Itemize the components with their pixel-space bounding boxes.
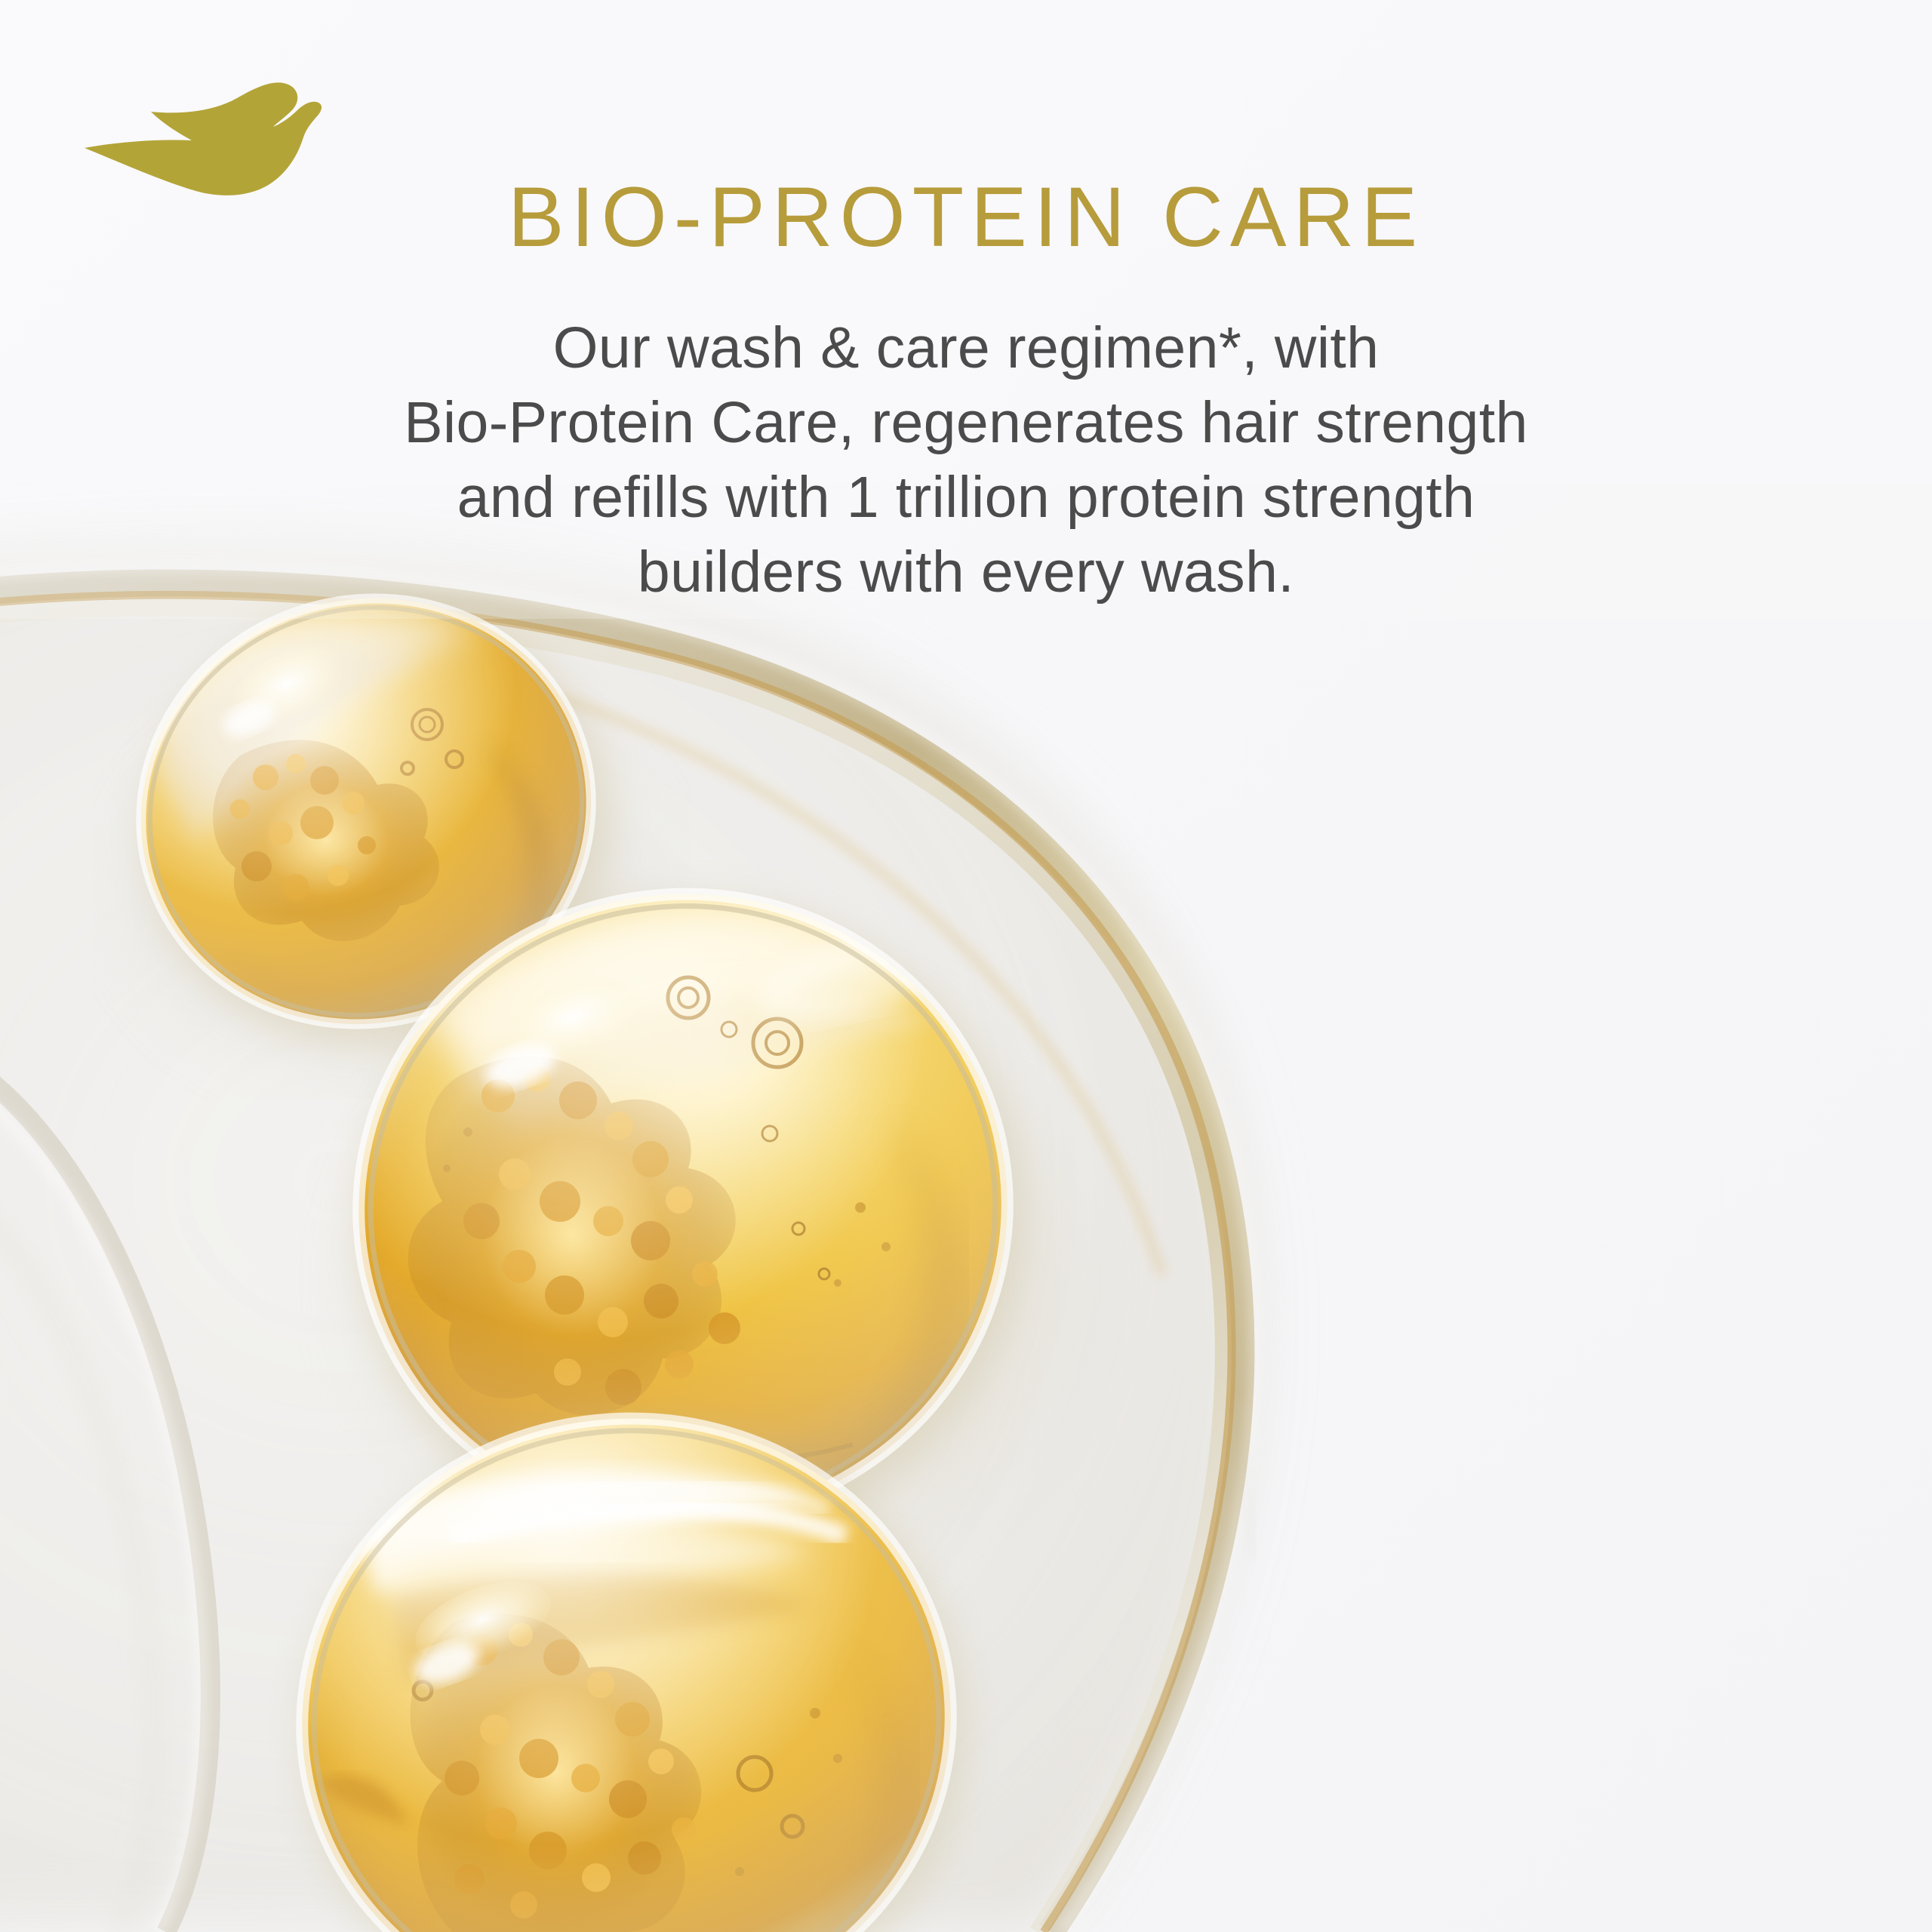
- body-copy: Our wash & care regimen*, with Bio-Prote…: [0, 311, 1932, 610]
- body-copy-line-3: and refills with 1 trillion protein stre…: [0, 460, 1932, 535]
- serum-droplets-photo: [0, 0, 1932, 1932]
- body-copy-line-1: Our wash & care regimen*, with: [0, 311, 1932, 386]
- body-copy-line-4: builders with every wash.: [0, 535, 1932, 610]
- poster-canvas: BIO-PROTEIN CARE Our wash & care regimen…: [0, 0, 1932, 1932]
- body-copy-line-2: Bio-Protein Care, regenerates hair stren…: [0, 386, 1932, 460]
- page-title: BIO-PROTEIN CARE: [0, 172, 1932, 263]
